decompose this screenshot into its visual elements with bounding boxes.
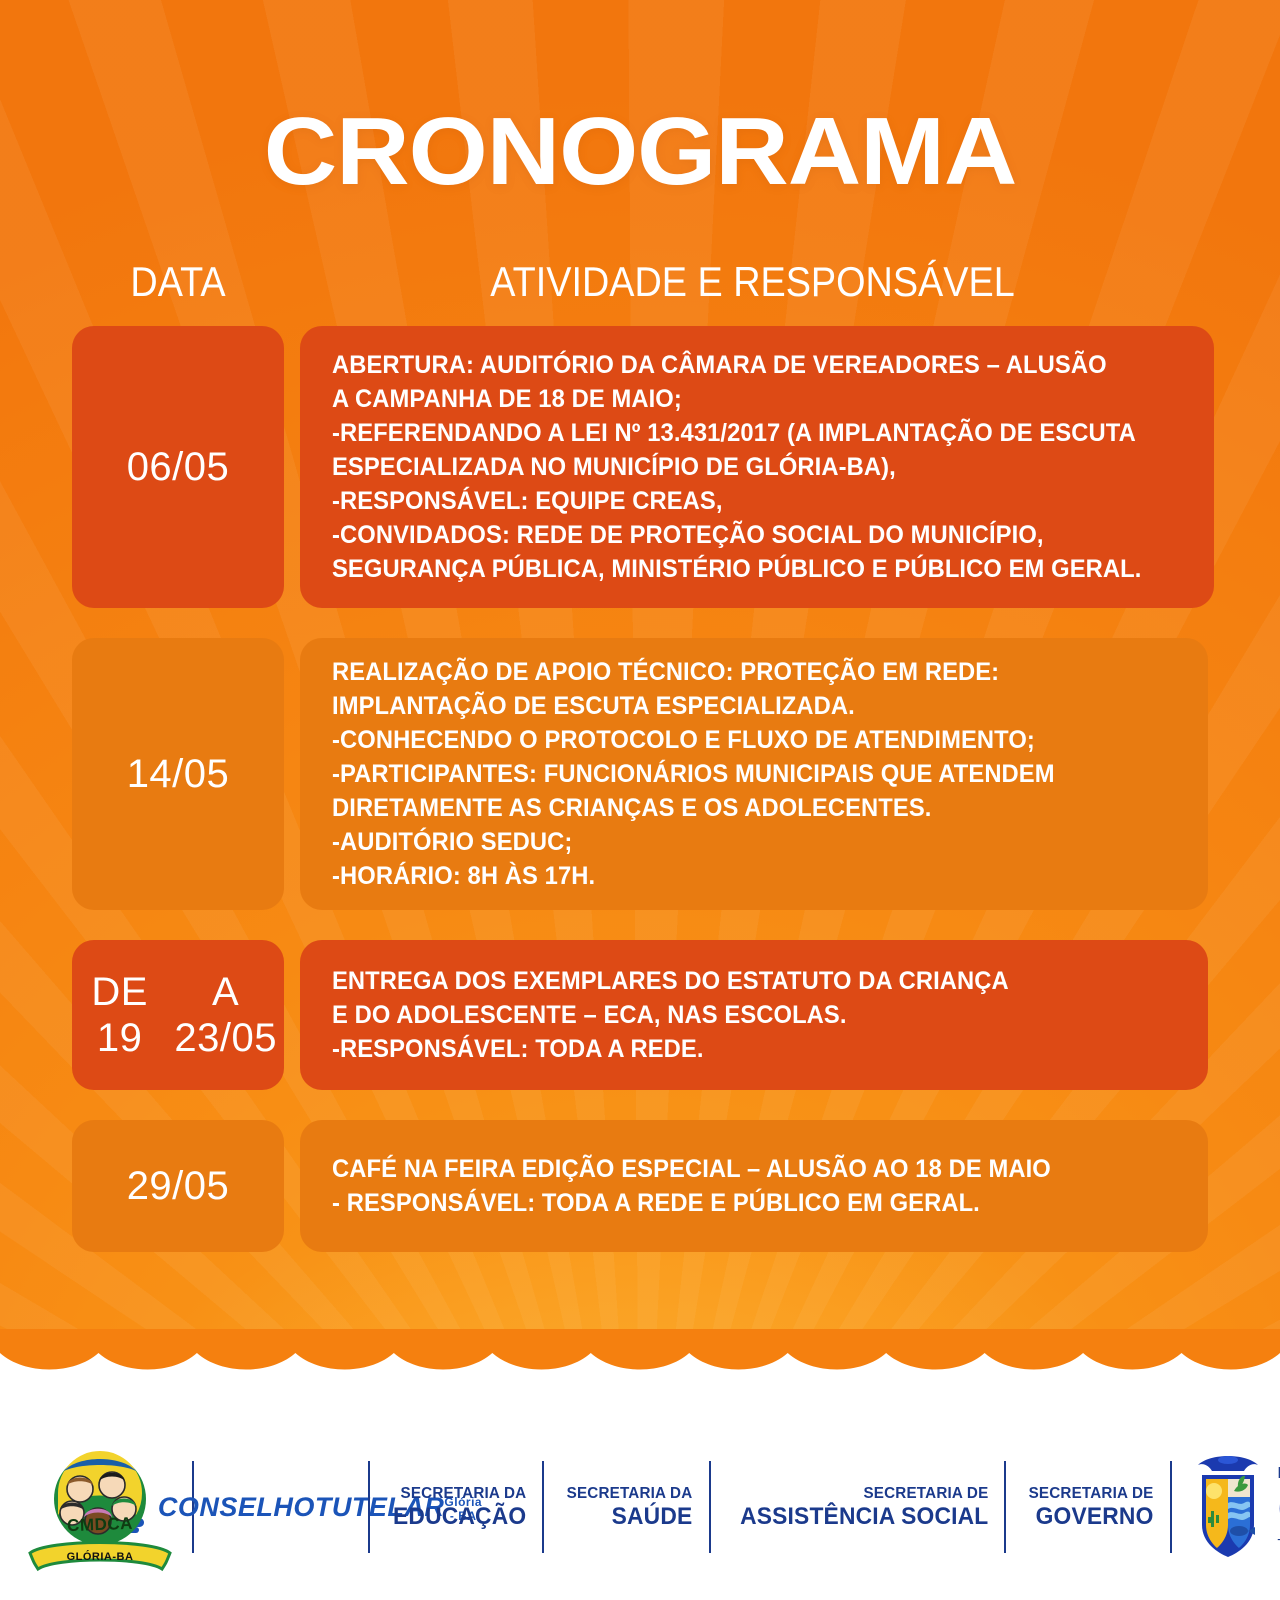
schedule-rows: 06/05ABERTURA: AUDITÓRIO DA CÂMARA DE VE… <box>0 326 1280 1282</box>
row-activity-line: -HORÁRIO: 8H ÀS 17H. <box>332 859 1136 893</box>
secretaria-prefix: SECRETARIA DA <box>567 1484 693 1503</box>
row-activity-cell: ENTREGA DOS EXEMPLARES DO ESTATUTO DA CR… <box>300 940 1208 1090</box>
secretaria-educacao: SECRETARIA DA EDUCAÇÃO <box>386 1484 526 1530</box>
row-activity-line: IMPLANTAÇÃO DE ESCUTA ESPECIALIZADA. <box>332 689 1136 723</box>
secretaria-assistencia-social: SECRETARIA DE ASSISTÊNCIA SOCIAL <box>727 1484 988 1530</box>
column-header-date: DATA <box>83 258 274 306</box>
row-activity-line: ABERTURA: AUDITÓRIO DA CÂMARA DE VEREADO… <box>332 348 1141 382</box>
row-activity-line: -RESPONSÁVEL: EQUIPE CREAS, <box>332 484 1141 518</box>
secretaria-name: GOVERNO <box>1029 1503 1154 1530</box>
column-headers: DATA ATIVIDADE E RESPONSÁVEL <box>0 258 1280 308</box>
secretaria-name: ASSISTÊNCIA SOCIAL <box>740 1503 988 1530</box>
schedule-row: 06/05ABERTURA: AUDITÓRIO DA CÂMARA DE VE… <box>0 326 1280 608</box>
prefeitura-crest-icon <box>1188 1447 1268 1567</box>
conselho-line1: CONSELHO <box>158 1494 315 1520</box>
logo-divider <box>368 1461 370 1553</box>
row-activity-line: -REFERENDANDO A LEI Nº 13.431/2017 (A IM… <box>332 416 1141 450</box>
row-date-line: 06/05 <box>127 444 230 490</box>
row-activity-line: -AUDITÓRIO SEDUC; <box>332 825 1136 859</box>
row-date-cell: 29/05 <box>72 1120 284 1252</box>
secretaria-governo: SECRETARIA DE GOVERNO <box>1022 1484 1154 1530</box>
footer: CMDCA GLÓRIA-BA <box>0 1330 1280 1600</box>
prefeitura-logo: PREFEITURA DE GLÓRIA TRABALHO QUE HONRA … <box>1188 1447 1280 1567</box>
schedule-row: 14/05REALIZAÇÃO DE APOIO TÉCNICO: PROTEÇ… <box>0 638 1280 910</box>
row-date-cell: 14/05 <box>72 638 284 910</box>
row-activity-line: -CONHECENDO O PROTOCOLO E FLUXO DE ATEND… <box>332 723 1136 757</box>
row-date-line: 14/05 <box>127 751 230 797</box>
row-date-line: A 23/05 <box>167 969 284 1061</box>
row-activity-line: ENTREGA DOS EXEMPLARES DO ESTATUTO DA CR… <box>332 964 1136 998</box>
secretaria-name: EDUCAÇÃO <box>393 1503 526 1530</box>
page-title: CRONOGRAMA <box>0 104 1280 200</box>
row-date-line: DE 19 <box>72 969 167 1061</box>
cmdca-logo: CMDCA GLÓRIA-BA <box>24 1441 176 1573</box>
row-activity-line: - RESPONSÁVEL: TODA A REDE E PÚBLICO EM … <box>332 1186 1136 1220</box>
row-activity-line: REALIZAÇÃO DE APOIO TÉCNICO: PROTEÇÃO EM… <box>332 655 1136 689</box>
row-date-line: 29/05 <box>127 1163 230 1209</box>
conselho-tutelar-logo: CONSELHO TUTELAR Glória - BA <box>210 1474 352 1541</box>
row-activity-line: -CONVIDADOS: REDE DE PROTEÇÃO SOCIAL DO … <box>332 518 1141 552</box>
row-activity-line: -PARTICIPANTES: FUNCIONÁRIOS MUNICIPAIS … <box>332 757 1136 791</box>
scalloped-edge <box>0 1329 1280 1375</box>
column-header-activity: ATIVIDADE E RESPONSÁVEL <box>345 258 1160 306</box>
row-activity-line: E DO ADOLESCENTE – ECA, NAS ESCOLAS. <box>332 998 1136 1032</box>
partner-logos: CMDCA GLÓRIA-BA <box>0 1432 1280 1582</box>
schedule-row: 29/05CAFÉ NA FEIRA EDIÇÃO ESPECIAL – ALU… <box>0 1120 1280 1252</box>
row-date-cell: 06/05 <box>72 326 284 608</box>
row-activity-line: -RESPONSÁVEL: TODA A REDE. <box>332 1032 1136 1066</box>
row-activity-line: ESPECIALIZADA NO MUNICÍPIO DE GLÓRIA-BA)… <box>332 450 1141 484</box>
schedule-row: DE 19A 23/05ENTREGA DOS EXEMPLARES DO ES… <box>0 940 1280 1090</box>
cronograma-poster: CRONOGRAMA DATA ATIVIDADE E RESPONSÁVEL … <box>0 0 1280 1600</box>
row-activity-line: A CAMPANHA DE 18 DE MAIO; <box>332 382 1141 416</box>
logo-divider <box>1004 1461 1006 1553</box>
row-activity-line: SEGURANÇA PÚBLICA, MINISTÉRIO PÚBLICO E … <box>332 552 1141 586</box>
secretaria-name: SAÚDE <box>567 1503 693 1530</box>
logo-divider <box>542 1461 544 1553</box>
secretaria-prefix: SECRETARIA DE <box>740 1484 988 1503</box>
row-activity-line: DIRETAMENTE AS CRIANÇAS E OS ADOLECENTES… <box>332 791 1136 825</box>
logo-divider <box>709 1461 711 1553</box>
secretaria-prefix: SECRETARIA DA <box>393 1484 526 1503</box>
cmdca-location: GLÓRIA-BA <box>24 1551 176 1563</box>
row-date-cell: DE 19A 23/05 <box>72 940 284 1090</box>
row-activity-cell: REALIZAÇÃO DE APOIO TÉCNICO: PROTEÇÃO EM… <box>300 638 1208 910</box>
logo-divider <box>1170 1461 1172 1553</box>
secretaria-saude: SECRETARIA DA SAÚDE <box>560 1484 692 1530</box>
row-activity-line: CAFÉ NA FEIRA EDIÇÃO ESPECIAL – ALUSÃO A… <box>332 1152 1136 1186</box>
secretaria-prefix: SECRETARIA DE <box>1029 1484 1154 1503</box>
row-activity-cell: ABERTURA: AUDITÓRIO DA CÂMARA DE VEREADO… <box>300 326 1214 608</box>
row-activity-cell: CAFÉ NA FEIRA EDIÇÃO ESPECIAL – ALUSÃO A… <box>300 1120 1208 1252</box>
